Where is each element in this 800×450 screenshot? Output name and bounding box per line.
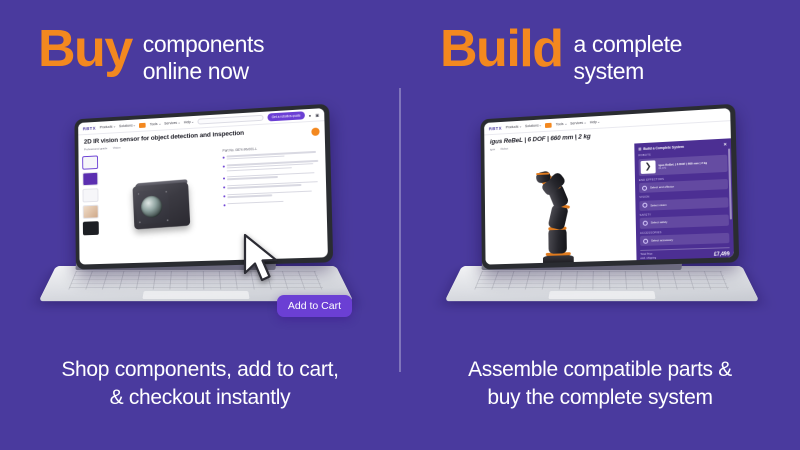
spec-bullet — [223, 199, 321, 206]
headline-right-rest: a complete system — [573, 24, 682, 85]
total-label-group: Total Price excl. shipping — [640, 253, 656, 260]
thumbnail-dark[interactable] — [82, 221, 98, 235]
caption-left: Shop components, add to cart, & checkout… — [0, 356, 400, 411]
total-value: £7,499 — [714, 251, 730, 258]
add-to-cart-button[interactable]: Add to Cart — [277, 295, 352, 317]
trackpad — [143, 291, 249, 299]
keyboard-keys — [69, 271, 324, 290]
tablet-device-right: RBTX Products Solutions Tools Services H… — [460, 108, 750, 323]
headline-right-emphasis: Build — [440, 24, 562, 75]
nav-item-solutions[interactable]: Solutions — [119, 123, 135, 128]
build-system-panel: ☰ Build a Complete System ✕ ROBOTS ❯ igu… — [634, 138, 734, 263]
headline-left-line2: online now — [143, 58, 264, 85]
caption-left-line2: & checkout instantly — [0, 384, 400, 412]
bullet-dot-icon — [223, 195, 225, 197]
row-label: Select end effector — [650, 185, 674, 190]
spec-text — [227, 199, 321, 206]
nav-item-products[interactable]: Products — [100, 125, 116, 130]
nav-item-tools[interactable]: Tools — [556, 122, 567, 127]
caption-right: Assemble compatible parts & buy the comp… — [400, 356, 800, 411]
nav-item-services[interactable]: Services — [164, 121, 180, 126]
bullet-dot-icon — [224, 204, 226, 206]
headline-left-rest: components online now — [143, 24, 264, 85]
tablet-device-left: RBTX Products Solutions Tools Services H… — [54, 108, 344, 323]
product-body: Part No. 0874-IRv001-L — [78, 138, 327, 264]
nav-item-products[interactable]: Products — [506, 125, 522, 130]
camera-screw — [166, 219, 168, 221]
spec-text — [227, 181, 321, 191]
nav-item-services[interactable]: Services — [570, 121, 586, 126]
nav-item-help[interactable]: Help — [590, 120, 600, 124]
configurator-body: ☰ Build a Complete System ✕ ROBOTS ❯ igu… — [484, 138, 733, 264]
camera-lens — [140, 195, 162, 218]
camera-screw — [137, 193, 139, 195]
robot-arm-image — [484, 144, 636, 265]
nav-item-tools[interactable]: Tools — [150, 122, 161, 127]
rbtx-logo: RBTX — [83, 125, 96, 131]
caption-right-line2: buy the complete system — [400, 384, 800, 412]
user-icon[interactable]: ● — [309, 112, 312, 117]
configurator-page-screen: RBTX Products Solutions Tools Services H… — [484, 108, 734, 265]
close-icon[interactable]: ✕ — [723, 143, 727, 147]
total-price-row: Total Price excl. shipping £7,499 — [640, 247, 729, 260]
camera-icon — [642, 203, 647, 208]
promo-banner: Buy components online now Build a comple… — [0, 0, 800, 450]
thumbnail-strip — [78, 150, 102, 264]
quote-button[interactable]: Get a robotics quote — [268, 112, 305, 121]
panel-title-group: ☰ Build a Complete System — [638, 145, 684, 151]
spec-bullet — [223, 160, 321, 173]
spec-text — [227, 160, 321, 173]
shop-page-screen: RBTX Products Solutions Tools Services H… — [78, 108, 328, 265]
nav-badge-icon — [545, 122, 552, 127]
bullet-dot-icon — [223, 186, 225, 188]
headline-right: Build a complete system — [440, 24, 682, 85]
trackpad — [549, 291, 655, 299]
keyboard-base-right — [445, 266, 760, 301]
camera-face — [135, 189, 169, 225]
total-sublabel: excl. shipping — [640, 256, 656, 260]
shield-icon — [643, 221, 648, 226]
camera-screw — [138, 221, 140, 223]
row-select-vision[interactable]: Select vision — [639, 197, 728, 211]
rbtx-logo: RBTX — [489, 125, 502, 131]
spec-bullet — [223, 181, 321, 191]
nav-item-solutions[interactable]: Solutions — [525, 123, 541, 128]
selected-robot-card[interactable]: ❯ igus ReBeL | 6 DOF | 660 mm | 2 kg €4,… — [639, 154, 728, 175]
spec-bullet — [223, 190, 321, 200]
thumbnail-hand[interactable] — [82, 205, 98, 219]
spec-bullet — [223, 172, 321, 182]
ir-camera-illustration — [132, 182, 190, 229]
headline-left: Buy components online now — [38, 24, 264, 85]
bullet-dot-icon — [223, 157, 225, 159]
arm-segment-1 — [548, 228, 567, 254]
headline-right-line2: system — [573, 58, 682, 85]
tablet-screen-shell-right: RBTX Products Solutions Tools Services H… — [480, 104, 739, 270]
row-label: Select safety — [651, 220, 668, 225]
selected-robot-text: igus ReBeL | 6 DOF | 660 mm | 2 kg €4,97… — [658, 159, 725, 169]
vertical-divider — [399, 88, 401, 372]
menu-icon[interactable]: ☰ — [638, 147, 641, 151]
panel-title: Build a Complete System — [643, 145, 684, 151]
accessory-icon — [643, 238, 648, 243]
row-label: Select vision — [650, 203, 666, 208]
spec-text — [227, 172, 321, 182]
headline-left-line1: components — [143, 31, 264, 58]
caption-right-line1: Assemble compatible parts & — [400, 356, 800, 384]
nav-item-help[interactable]: Help — [184, 120, 194, 124]
panel-scrollbar[interactable] — [728, 148, 731, 219]
bullet-dot-icon — [223, 177, 225, 179]
igus-rebel-arm — [528, 162, 591, 265]
keyboard-keys — [475, 271, 730, 290]
thumbnail-lens[interactable] — [82, 188, 98, 202]
tablet-screen-shell-left: RBTX Products Solutions Tools Services H… — [74, 104, 333, 270]
headline-left-emphasis: Buy — [38, 24, 132, 75]
gripper-icon — [642, 185, 647, 190]
row-select-end-effector[interactable]: Select end effector — [639, 179, 728, 193]
row-select-accessory[interactable]: Select accessory — [640, 233, 729, 246]
row-label: Select accessory — [651, 238, 673, 243]
bullet-dot-icon — [223, 165, 225, 167]
search-input[interactable] — [198, 115, 264, 125]
camera-screw — [164, 190, 166, 192]
thumbnail-violet[interactable] — [82, 172, 98, 186]
caption-left-line1: Shop components, add to cart, — [0, 356, 400, 384]
product-image — [101, 144, 223, 265]
nav-badge-icon — [139, 122, 146, 127]
headline-right-line1: a complete — [573, 31, 682, 58]
spec-text — [227, 190, 321, 200]
robot-thumbnail-icon: ❯ — [641, 160, 656, 174]
row-select-safety[interactable]: Select safety — [640, 215, 729, 229]
view-shopping-cart-button[interactable]: View shopping cart — [641, 260, 731, 264]
thumbnail-camera[interactable] — [82, 155, 98, 169]
cart-icon[interactable]: ▣ — [315, 112, 319, 117]
